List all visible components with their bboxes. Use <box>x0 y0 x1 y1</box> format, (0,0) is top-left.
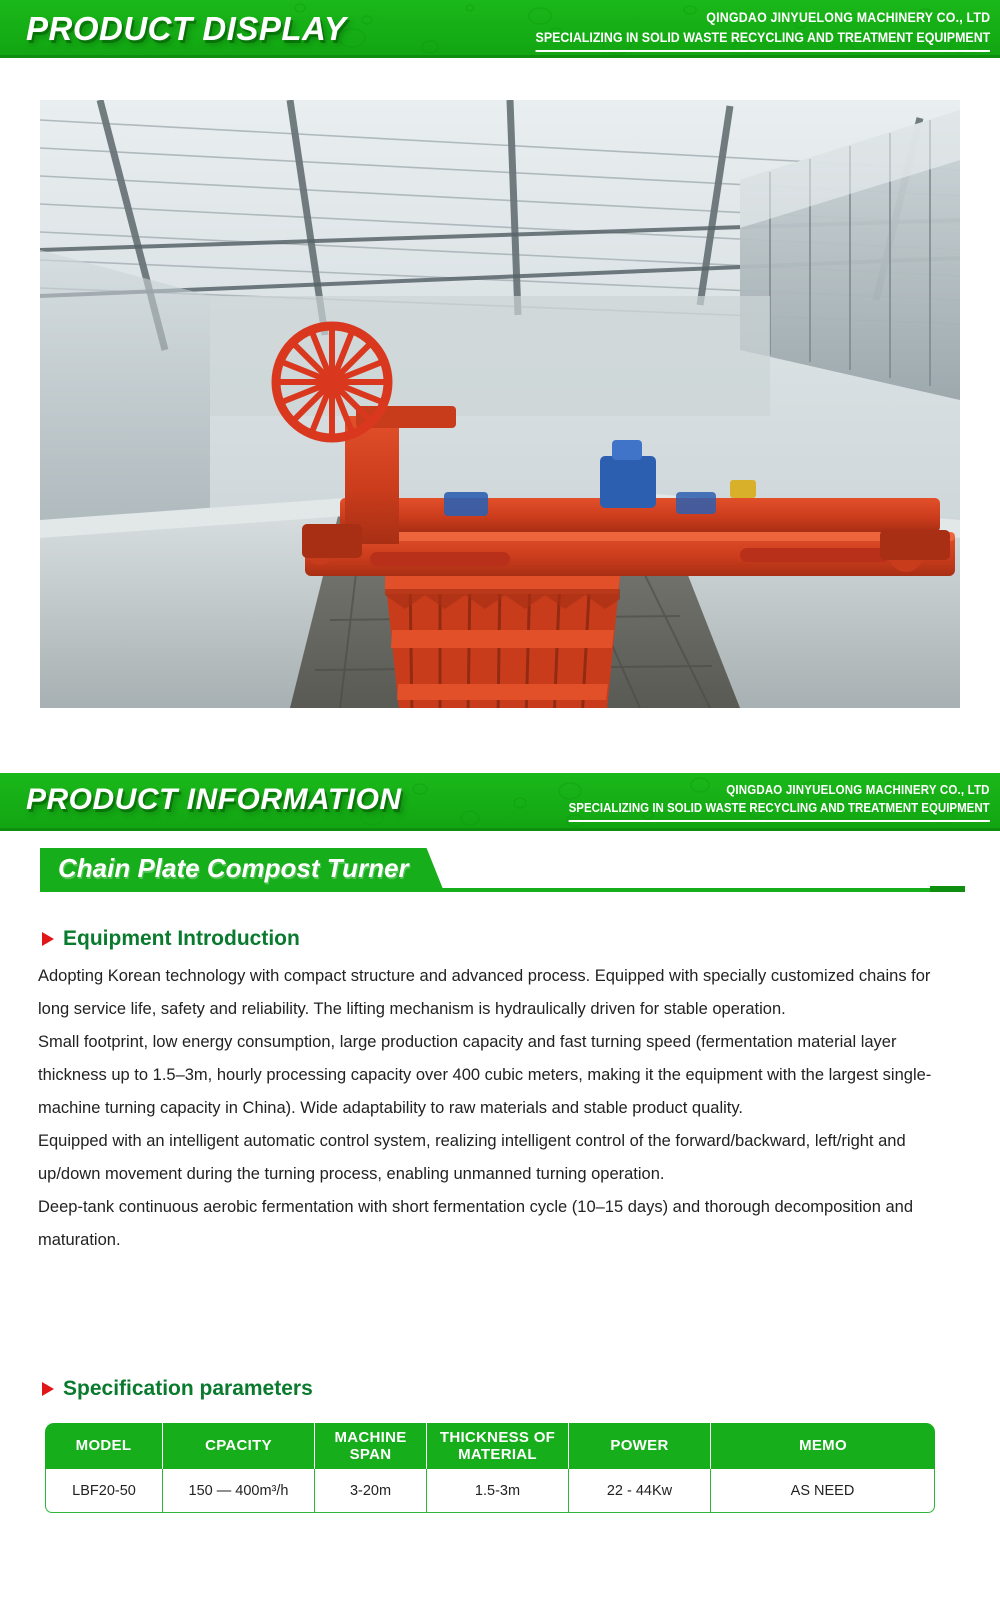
company-tagline-line: SPECIALIZING IN SOLID WASTE RECYCLING AN… <box>569 799 990 822</box>
cell-power: 22 - 44Kw <box>569 1469 711 1513</box>
column-header-power: POWER <box>569 1423 711 1469</box>
banner-company-display: QINGDAO JINYUELONG MACHINERY CO., LTD SP… <box>496 8 990 52</box>
column-header-machine-span: MACHINE SPAN <box>315 1423 427 1469</box>
paragraph: Small footprint, low energy consumption,… <box>38 1026 943 1125</box>
product-name-ribbon: Chain Plate Compost Turner <box>40 848 443 888</box>
cell-model: LBF20-50 <box>45 1469 163 1513</box>
cell-thickness-of-material: 1.5-3m <box>427 1469 569 1513</box>
equipment-introduction-body: Adopting Korean technology with compact … <box>38 960 943 1257</box>
arrow-right-icon <box>42 1382 54 1396</box>
arrow-right-icon <box>42 932 54 946</box>
product-name: Chain Plate Compost Turner <box>58 853 409 884</box>
product-information-banner: PRODUCT INFORMATION QINGDAO JINYUELONG M… <box>0 773 1000 828</box>
cell-cpacity: 150 — 400m³/h <box>163 1469 315 1513</box>
ribbon-underline-tail <box>930 886 965 892</box>
cell-machine-span: 3-20m <box>315 1469 427 1513</box>
paragraph: Deep-tank continuous aerobic fermentatio… <box>38 1191 943 1257</box>
heading-label: Equipment Introduction <box>63 927 300 951</box>
paragraph: Equipped with an intelligent automatic c… <box>38 1125 943 1191</box>
cell-memo: AS NEED <box>711 1469 935 1513</box>
banner-company-information: QINGDAO JINYUELONG MACHINERY CO., LTD SP… <box>532 781 990 822</box>
section-heading-equipment-introduction: Equipment Introduction <box>42 927 300 951</box>
banner-title-display: PRODUCT DISPLAY <box>26 10 346 48</box>
product-photo-illustration <box>40 100 960 708</box>
company-tagline-line: SPECIALIZING IN SOLID WASTE RECYCLING AN… <box>535 28 990 53</box>
product-display-banner: PRODUCT DISPLAY QINGDAO JINYUELONG MACHI… <box>0 0 1000 55</box>
column-header-cpacity: CPACITY <box>163 1423 315 1469</box>
ribbon-underline <box>40 888 930 892</box>
specification-table: MODEL CPACITY MACHINE SPAN THICKNESS OF … <box>45 1423 935 1513</box>
column-header-thickness-of-material: THICKNESS OF MATERIAL <box>427 1423 569 1469</box>
banner-title-information: PRODUCT INFORMATION <box>26 783 402 817</box>
product-photo <box>40 100 960 708</box>
heading-label: Specification parameters <box>63 1377 313 1401</box>
paragraph: Adopting Korean technology with compact … <box>38 960 943 1026</box>
banner-information-edge-strip <box>0 828 1000 831</box>
column-header-model: MODEL <box>45 1423 163 1469</box>
banner-display-edge-strip <box>0 55 1000 58</box>
table-row: LBF20-50 150 — 400m³/h 3-20m 1.5-3m 22 -… <box>45 1469 935 1513</box>
company-name-line: QINGDAO JINYUELONG MACHINERY CO., LTD <box>569 781 990 799</box>
column-header-memo: MEMO <box>711 1423 935 1469</box>
section-heading-specification-parameters: Specification parameters <box>42 1377 313 1401</box>
table-header-row: MODEL CPACITY MACHINE SPAN THICKNESS OF … <box>45 1423 935 1469</box>
company-name-line: QINGDAO JINYUELONG MACHINERY CO., LTD <box>535 8 990 28</box>
